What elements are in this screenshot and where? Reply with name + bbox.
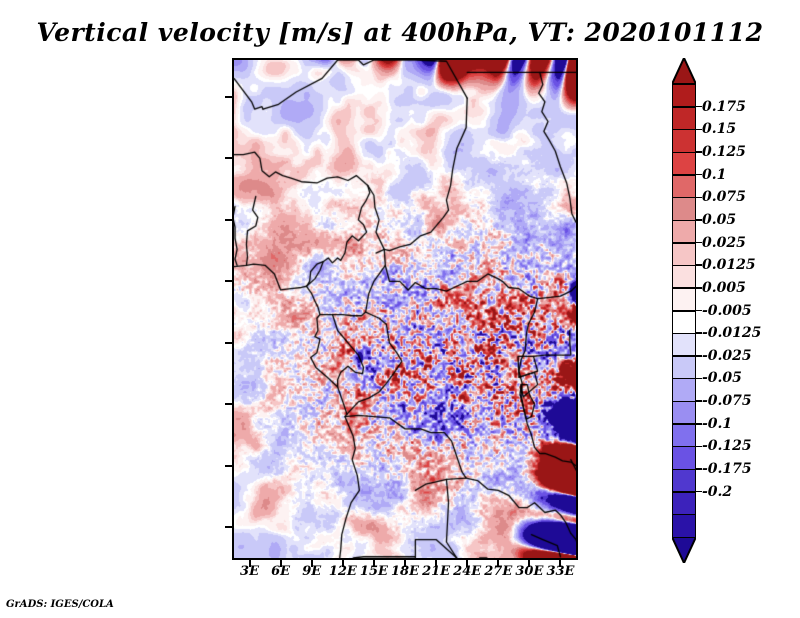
colorbar-swatch xyxy=(672,220,696,243)
colorbar-tick-mark xyxy=(696,468,702,470)
colorbar-tick-mark xyxy=(696,491,702,493)
colorbar-tick-label: -0.05 xyxy=(702,370,742,386)
colorbar-swatch xyxy=(672,243,696,266)
colorbar-swatch xyxy=(672,288,696,311)
colorbar-tick-mark xyxy=(696,310,702,312)
colorbar-tick-label: 0.05 xyxy=(702,212,736,228)
x-axis-tick-mark xyxy=(466,560,468,567)
colorbar-swatch xyxy=(672,424,696,447)
colorbar-tick-label: 0.075 xyxy=(702,189,746,205)
colorbar-tick-mark xyxy=(696,423,702,425)
colorbar-cap-bottom-outline xyxy=(672,537,696,563)
x-axis-tick-mark xyxy=(497,560,499,567)
colorbar-tick-label: -0.025 xyxy=(702,348,752,364)
colorbar-swatch xyxy=(672,514,696,537)
colorbar-tick-label: 0.125 xyxy=(702,144,746,160)
colorbar-tick-mark xyxy=(696,106,702,108)
colorbar-swatch xyxy=(672,356,696,379)
colorbar-tick-label: -0.125 xyxy=(702,438,752,454)
colorbar-tick-label: -0.005 xyxy=(702,303,752,319)
colorbar-swatch xyxy=(672,446,696,469)
colorbar-swatch xyxy=(672,107,696,130)
colorbar-tick-mark xyxy=(696,129,702,131)
x-axis-tick-mark xyxy=(342,560,344,567)
colorbar-tick-mark xyxy=(696,174,702,176)
colorbar-swatch xyxy=(672,84,696,107)
x-axis-tick-mark xyxy=(528,560,530,567)
x-axis-tick-mark xyxy=(404,560,406,567)
colorbar-swatch xyxy=(672,265,696,288)
colorbar-tick-label: -0.175 xyxy=(702,461,752,477)
colorbar-cap-top-outline xyxy=(672,58,696,84)
colorbar: 0.1750.150.1250.10.0750.050.0250.01250.0… xyxy=(672,58,696,563)
plot-page: Vertical velocity [m/s] at 400hPa, VT: 2… xyxy=(0,0,800,618)
colorbar-tick-label: 0.1 xyxy=(702,167,726,183)
colorbar-swatch xyxy=(672,197,696,220)
attribution-footer: GrADS: IGES/COLA xyxy=(6,599,114,610)
x-axis-tick-mark xyxy=(311,560,313,567)
colorbar-tick-label: 0.025 xyxy=(702,235,746,251)
colorbar-swatch xyxy=(672,469,696,492)
colorbar-tick-mark xyxy=(696,219,702,221)
colorbar-tick-label: 0.15 xyxy=(702,121,736,137)
colorbar-swatch xyxy=(672,378,696,401)
colorbar-tick-label: -0.0125 xyxy=(702,325,761,341)
x-axis-tick-mark xyxy=(559,560,561,567)
x-axis-tick-mark xyxy=(373,560,375,567)
x-axis-tick-mark xyxy=(249,560,251,567)
colorbar-tick-mark xyxy=(696,355,702,357)
colorbar-tick-label: 0.005 xyxy=(702,280,746,296)
colorbar-swatch xyxy=(672,492,696,515)
colorbar-tick-label: -0.1 xyxy=(702,416,732,432)
colorbar-tick-mark xyxy=(696,378,702,380)
colorbar-tick-mark xyxy=(696,332,702,334)
colorbar-tick-label: -0.075 xyxy=(702,393,752,409)
colorbar-tick-mark xyxy=(696,264,702,266)
colorbar-tick-mark xyxy=(696,400,702,402)
colorbar-tick-mark xyxy=(696,287,702,289)
colorbar-tick-mark xyxy=(696,446,702,448)
colorbar-swatch xyxy=(672,401,696,424)
colorbar-tick-mark xyxy=(696,197,702,199)
colorbar-tick-label: 0.175 xyxy=(702,99,746,115)
x-axis-tick-mark xyxy=(280,560,282,567)
colorbar-tick-label: 0.0125 xyxy=(702,257,756,273)
colorbar-tick-mark xyxy=(696,151,702,153)
colorbar-tick-label: -0.2 xyxy=(702,484,732,500)
colorbar-swatch xyxy=(672,333,696,356)
x-axis-tick-mark xyxy=(435,560,437,567)
colorbar-swatch xyxy=(672,129,696,152)
colorbar-swatch xyxy=(672,311,696,334)
colorbar-swatch xyxy=(672,152,696,175)
colorbar-swatch xyxy=(672,175,696,198)
colorbar-tick-mark xyxy=(696,242,702,244)
